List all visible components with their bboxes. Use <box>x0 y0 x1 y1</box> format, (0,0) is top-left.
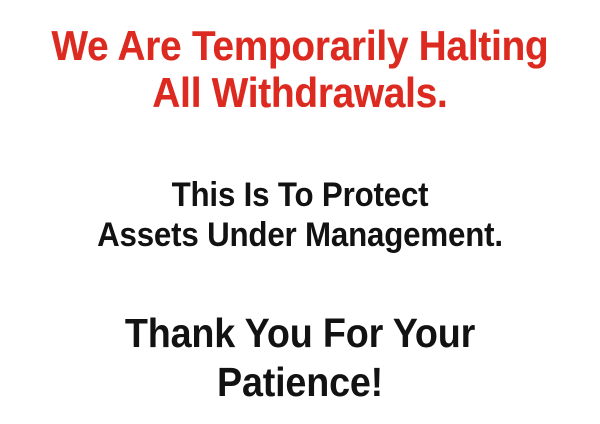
explanation-block: This Is To Protect Assets Under Manageme… <box>0 175 600 255</box>
explanation-line-1: This Is To Protect <box>24 175 576 215</box>
withdrawal-halt-notice: We Are Temporarily Halting All Withdrawa… <box>0 0 600 424</box>
thanks-block: Thank You For Your Patience! <box>0 309 600 407</box>
thanks-line-2: Patience! <box>24 358 576 407</box>
headline-block: We Are Temporarily Halting All Withdrawa… <box>0 22 600 116</box>
explanation-line-2: Assets Under Management. <box>24 215 576 255</box>
headline-line-1: We Are Temporarily Halting <box>24 22 576 69</box>
headline-line-2: All Withdrawals. <box>24 69 576 116</box>
thanks-line-1: Thank You For Your <box>24 309 576 358</box>
